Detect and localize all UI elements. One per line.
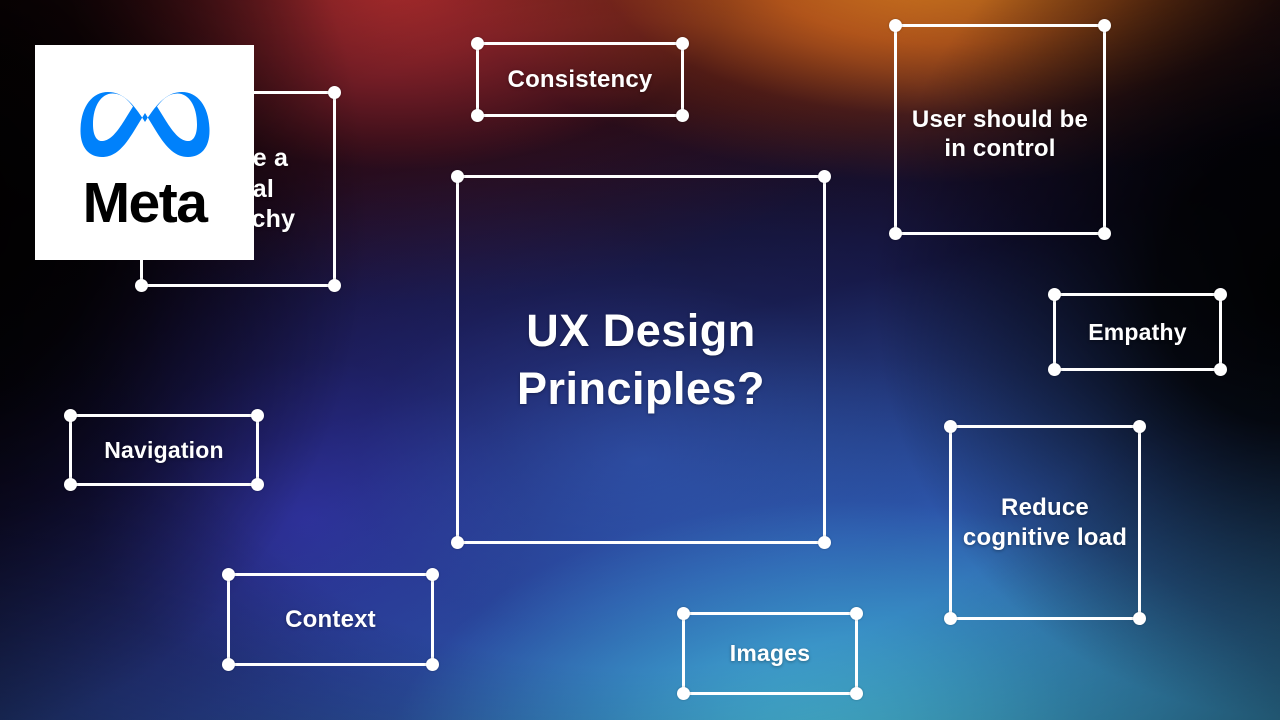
resize-handle-top-right[interactable] <box>328 86 341 99</box>
resize-handle-top-right[interactable] <box>1098 19 1111 32</box>
resize-handle-top-left[interactable] <box>64 409 77 422</box>
node-label: Consistency <box>500 65 661 94</box>
meta-infinity-icon <box>70 77 220 169</box>
resize-handle-top-right[interactable] <box>426 568 439 581</box>
resize-handle-bottom-left[interactable] <box>944 612 957 625</box>
node-ux-design-principles[interactable]: UX Design Principles? <box>456 175 826 544</box>
resize-handle-bottom-left[interactable] <box>135 279 148 292</box>
resize-handle-top-left[interactable] <box>222 568 235 581</box>
node-label: Images <box>722 639 818 667</box>
node-label: Context <box>277 605 384 634</box>
node-consistency[interactable]: Consistency <box>476 42 684 117</box>
node-navigation[interactable]: Navigation <box>69 414 259 486</box>
node-label: Reduce cognitive load <box>952 493 1138 552</box>
resize-handle-top-left[interactable] <box>1048 288 1061 301</box>
resize-handle-bottom-left[interactable] <box>222 658 235 671</box>
meta-wordmark: Meta <box>83 175 207 232</box>
node-user-should-be-in-control[interactable]: User should be in control <box>894 24 1106 235</box>
meta-logo-card: Meta <box>35 45 254 260</box>
slide-canvas: Create a visual hierarchy Consistency Us… <box>0 0 1280 720</box>
resize-handle-top-right[interactable] <box>850 607 863 620</box>
resize-handle-bottom-left[interactable] <box>1048 363 1061 376</box>
resize-handle-top-right[interactable] <box>1214 288 1227 301</box>
node-label: Navigation <box>96 436 232 464</box>
resize-handle-bottom-right[interactable] <box>251 478 264 491</box>
resize-handle-top-left[interactable] <box>944 420 957 433</box>
resize-handle-bottom-right[interactable] <box>1098 227 1111 240</box>
resize-handle-bottom-right[interactable] <box>850 687 863 700</box>
resize-handle-bottom-left[interactable] <box>471 109 484 122</box>
node-label: Empathy <box>1080 318 1195 346</box>
resize-handle-top-left[interactable] <box>677 607 690 620</box>
resize-handle-top-right[interactable] <box>251 409 264 422</box>
node-reduce-cognitive-load[interactable]: Reduce cognitive load <box>949 425 1141 620</box>
resize-handle-top-left[interactable] <box>471 37 484 50</box>
center-title: UX Design Principles? <box>459 302 823 417</box>
resize-handle-bottom-left[interactable] <box>677 687 690 700</box>
resize-handle-top-right[interactable] <box>676 37 689 50</box>
resize-handle-top-right[interactable] <box>818 170 831 183</box>
resize-handle-bottom-right[interactable] <box>1133 612 1146 625</box>
resize-handle-top-left[interactable] <box>889 19 902 32</box>
resize-handle-top-left[interactable] <box>451 170 464 183</box>
resize-handle-bottom-right[interactable] <box>426 658 439 671</box>
node-context[interactable]: Context <box>227 573 434 666</box>
resize-handle-bottom-left[interactable] <box>889 227 902 240</box>
resize-handle-bottom-left[interactable] <box>64 478 77 491</box>
resize-handle-bottom-left[interactable] <box>451 536 464 549</box>
resize-handle-bottom-right[interactable] <box>328 279 341 292</box>
resize-handle-bottom-right[interactable] <box>818 536 831 549</box>
resize-handle-top-right[interactable] <box>1133 420 1146 433</box>
resize-handle-bottom-right[interactable] <box>1214 363 1227 376</box>
node-images[interactable]: Images <box>682 612 858 695</box>
resize-handle-bottom-right[interactable] <box>676 109 689 122</box>
node-empathy[interactable]: Empathy <box>1053 293 1222 371</box>
node-label: User should be in control <box>897 105 1103 164</box>
